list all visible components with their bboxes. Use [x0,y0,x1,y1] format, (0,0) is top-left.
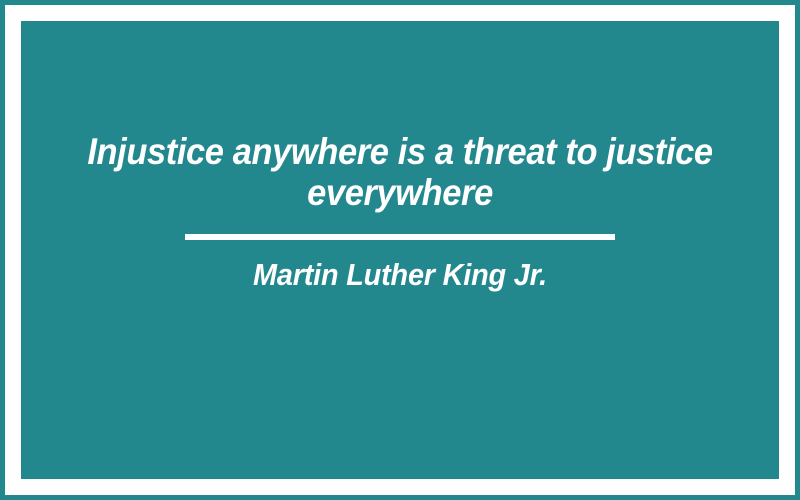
quote-card: Injustice anywhere is a threat to justic… [0,0,800,500]
quote-divider [185,234,615,240]
quote-text: Injustice anywhere is a threat to justic… [85,131,716,214]
quote-author: Martin Luther King Jr. [253,257,547,293]
quote-content-block: Injustice anywhere is a threat to justic… [21,131,779,293]
decorative-frame-border: Injustice anywhere is a threat to justic… [5,5,795,495]
